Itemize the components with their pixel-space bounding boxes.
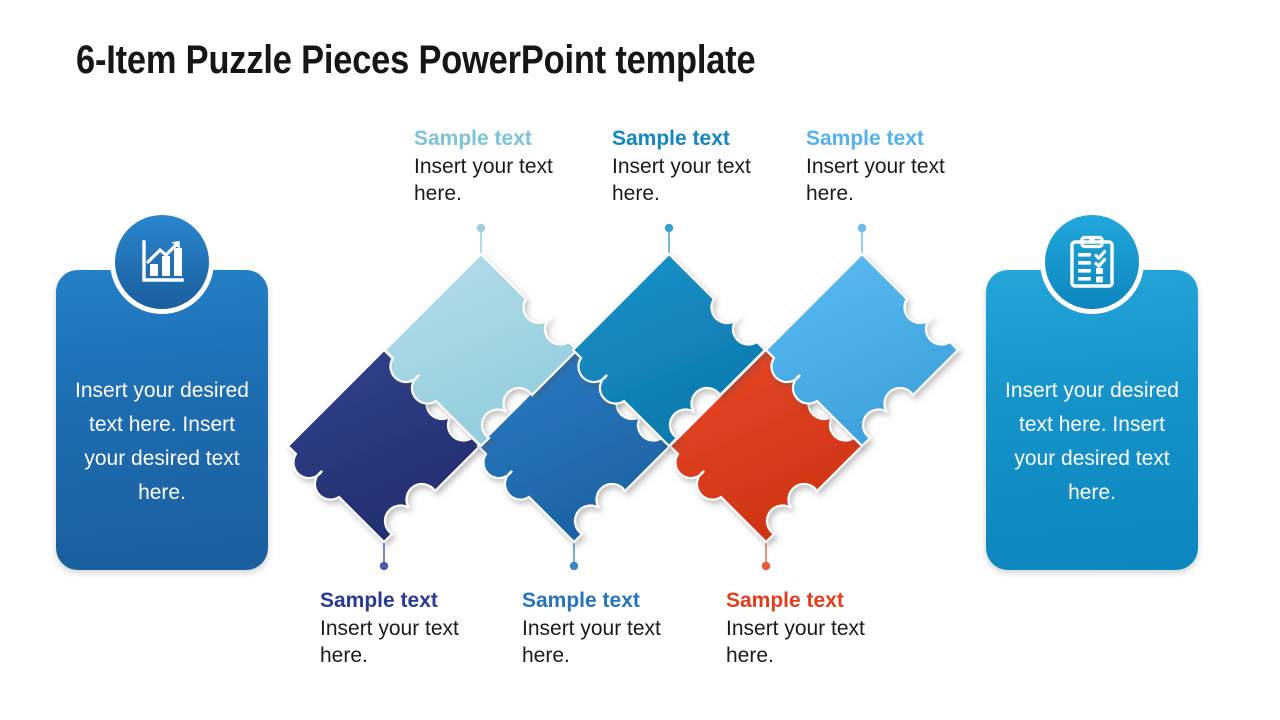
callout-body: Insert your text here. <box>726 616 911 670</box>
callout-bottom-right[interactable]: Sample text Insert your text here. <box>726 588 911 670</box>
bar-chart-growth-icon <box>136 236 188 288</box>
callout-body: Insert your text here. <box>806 154 991 208</box>
callout-top-middle[interactable]: Sample text Insert your text here. <box>612 126 797 208</box>
right-info-panel[interactable]: Insert your desired text here. Insert yo… <box>986 270 1198 570</box>
right-panel-icon-badge <box>1040 210 1144 314</box>
puzzle-diagram <box>284 222 974 572</box>
callout-top-left[interactable]: Sample text Insert your text here. <box>414 126 599 208</box>
callout-bottom-left[interactable]: Sample text Insert your text here. <box>320 588 505 670</box>
left-panel-text: Insert your desired text here. Insert yo… <box>66 374 258 510</box>
callout-title: Sample text <box>726 588 911 615</box>
left-panel-icon-badge <box>110 210 214 314</box>
callout-body: Insert your text here. <box>522 616 707 670</box>
callout-title: Sample text <box>806 126 991 153</box>
callout-bottom-middle[interactable]: Sample text Insert your text here. <box>522 588 707 670</box>
callout-top-right[interactable]: Sample text Insert your text here. <box>806 126 991 208</box>
callout-title: Sample text <box>414 126 599 153</box>
callout-title: Sample text <box>522 588 707 615</box>
right-panel-text: Insert your desired text here. Insert yo… <box>996 374 1188 510</box>
callout-body: Insert your text here. <box>414 154 599 208</box>
callout-body: Insert your text here. <box>612 154 797 208</box>
callout-title: Sample text <box>612 126 797 153</box>
left-info-panel[interactable]: Insert your desired text here. Insert yo… <box>56 270 268 570</box>
clipboard-checklist-icon <box>1066 235 1118 289</box>
page-title: 6-Item Puzzle Pieces PowerPoint template <box>76 38 755 83</box>
callout-body: Insert your text here. <box>320 616 505 670</box>
callout-title: Sample text <box>320 588 505 615</box>
